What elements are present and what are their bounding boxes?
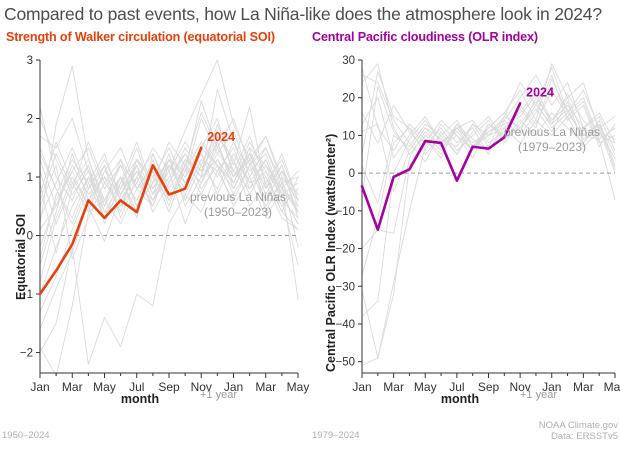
x-tick-label: Jan: [30, 380, 49, 394]
source-credit: NOAA Climate.gov Data: ERSSTv5: [530, 420, 618, 442]
footer-range-olr: 1979–2024: [312, 430, 360, 441]
x-axis-sublabel-olr: +1 year: [520, 389, 557, 401]
y-tick-label: −10: [335, 206, 355, 218]
annotation-previous-events: previous La Niñas: [190, 190, 286, 204]
credit-line-2: Data: ERSSTv5: [530, 431, 618, 442]
x-tick-label: May: [287, 380, 310, 394]
x-tick-label: Mar: [62, 380, 83, 394]
y-tick-label: 1: [27, 172, 33, 184]
series-label-2024: 2024: [526, 85, 554, 99]
x-tick-label: Mar: [573, 380, 594, 394]
x-tick-label: Mar: [255, 380, 276, 394]
y-tick-label: 2: [27, 114, 33, 126]
y-tick-label: 20: [342, 93, 355, 105]
y-tick-label: −20: [335, 244, 355, 256]
chart-walker: 3210−1−2JanMarMayJulSepNovJanMarMay2024p…: [0, 46, 310, 396]
credit-line-1: NOAA Climate.gov: [530, 420, 618, 431]
y-tick-label: −30: [335, 281, 355, 293]
footer-range-walker: 1950–2024: [2, 430, 50, 441]
chart-title-walker: Strength of Walker circulation (equatori…: [6, 30, 275, 44]
series-label-2024: 2024: [207, 130, 235, 144]
annotation-previous-events-years: (1950–2023): [204, 205, 272, 219]
chart-title-olr: Central Pacific cloudiness (OLR index): [312, 30, 538, 44]
x-axis-label-olr: month: [420, 392, 500, 406]
annotation-previous-events-years: (1979–2023): [518, 140, 586, 154]
page-title: Compared to past events, how La Niña-lik…: [4, 4, 616, 24]
y-tick-label: 3: [27, 55, 33, 67]
y-tick-label: −50: [335, 357, 355, 369]
y-tick-label: 0: [349, 168, 355, 180]
y-axis-label-walker: Equatorial SOI: [14, 214, 28, 300]
y-tick-label: −40: [335, 319, 355, 331]
annotation-previous-events: previous La Niñas: [504, 125, 600, 139]
chart-olr: 3020100−10−20−30−40−50JanMarMayJulSepNov…: [310, 46, 620, 396]
y-tick-label: −2: [20, 348, 33, 360]
x-axis-label-walker: month: [100, 392, 180, 406]
y-tick-label: 30: [342, 55, 355, 67]
infographic-root: Compared to past events, how La Niña-lik…: [0, 0, 620, 450]
x-tick-label: May: [604, 380, 620, 394]
x-tick-label: Mar: [383, 380, 404, 394]
y-tick-label: 10: [342, 130, 355, 142]
highlight-line-2024: [362, 103, 520, 229]
x-tick-label: Jan: [352, 380, 371, 394]
y-axis-label-olr: Central Pacific OLR Index (watts/meter²): [324, 134, 338, 372]
x-axis-sublabel-walker: +1 year: [200, 389, 237, 401]
